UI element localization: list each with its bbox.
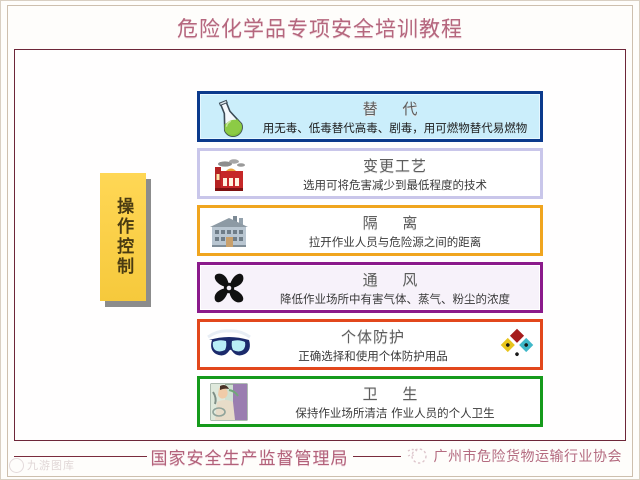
fan-icon [203, 266, 255, 310]
flask-icon [203, 95, 255, 139]
goggles-icon [203, 323, 255, 367]
list-item-subtitle: 降低作业场所中有害气体、蒸气、粉尘的浓度 [280, 291, 510, 307]
list-item-title: 替 代 [363, 98, 428, 119]
list-item-inner: 变更工艺 选用可将危害减少到最低程度的技术 [200, 151, 540, 196]
category-label-group: 操作控制 [100, 173, 146, 301]
list-item-title: 个体防护 [341, 326, 405, 347]
list-item-title: 隔 离 [363, 212, 428, 233]
footer: 国家安全生产监督管理局 广州市危险货物运输行业协会 [14, 441, 626, 471]
list-item-texts: 隔 离 拉开作业人员与危险源之间的距离 [255, 212, 539, 250]
watermark-text: 九游图库 [27, 457, 75, 473]
building-icon [203, 209, 255, 253]
hygiene-photo-icon [203, 380, 255, 424]
copyright-icon [9, 458, 24, 473]
footer-association-group: 广州市危险货物运输行业协会 [401, 446, 627, 466]
page-title: 危险化学品专项安全培训教程 [177, 13, 463, 43]
list-item-process-change[interactable]: 变更工艺 选用可将危害减少到最低程度的技术 [197, 148, 543, 199]
footer-rule-mid [353, 456, 401, 457]
list-item-hygiene[interactable]: 卫 生 保持作业场所清洁 作业人员的个人卫生 [197, 376, 543, 427]
title-bar: 危险化学品专项安全培训教程 [9, 7, 631, 49]
list-item-title: 变更工艺 [363, 155, 427, 176]
category-label-operation-control: 操作控制 [100, 173, 146, 301]
list-item-texts: 变更工艺 选用可将危害减少到最低程度的技术 [255, 155, 539, 193]
list-item-subtitle: 选用可将危害减少到最低程度的技术 [303, 177, 487, 193]
footer-agency: 国家安全生产监督管理局 [147, 444, 353, 469]
factory-icon [203, 152, 255, 196]
list-item-title: 卫 生 [363, 383, 428, 404]
list-item-isolation[interactable]: 隔 离 拉开作业人员与危险源之间的距离 [197, 205, 543, 256]
list-item-title: 通 风 [363, 269, 428, 290]
list-item-subtitle: 正确选择和使用个体防护用品 [298, 348, 448, 364]
list-item-inner: 通 风 降低作业场所中有害气体、蒸气、粉尘的浓度 [200, 265, 540, 310]
swoosh-circle-icon [407, 446, 429, 466]
list-item-texts: 替 代 用无毒、低毒替代高毒、剧毒，用可燃物替代易燃物 [255, 98, 539, 136]
list-item-inner: 卫 生 保持作业场所清洁 作业人员的个人卫生 [200, 379, 540, 424]
footer-association: 广州市危险货物运输行业协会 [434, 446, 623, 466]
nfpa-diamond-icon [495, 324, 539, 366]
measures-list: 替 代 用无毒、低毒替代高毒、剧毒，用可燃物替代易燃物 [197, 91, 543, 433]
list-item-texts: 通 风 降低作业场所中有害气体、蒸气、粉尘的浓度 [255, 269, 539, 307]
list-item-texts: 个体防护 正确选择和使用个体防护用品 [255, 326, 495, 364]
slide-canvas: 危险化学品专项安全培训教程 操作控制 [0, 0, 640, 480]
list-item-texts: 卫 生 保持作业场所清洁 作业人员的个人卫生 [255, 383, 539, 421]
list-item-ppe[interactable]: 个体防护 正确选择和使用个体防护用品 [197, 319, 543, 370]
watermark: 九游图库 [9, 457, 75, 473]
list-item-ventilation[interactable]: 通 风 降低作业场所中有害气体、蒸气、粉尘的浓度 [197, 262, 543, 313]
list-item-inner: 个体防护 正确选择和使用个体防护用品 [200, 322, 540, 367]
list-item-subtitle: 保持作业场所清洁 作业人员的个人卫生 [295, 405, 494, 421]
list-item-substitution[interactable]: 替 代 用无毒、低毒替代高毒、剧毒，用可燃物替代易燃物 [197, 91, 543, 142]
list-item-inner: 隔 离 拉开作业人员与危险源之间的距离 [200, 208, 540, 253]
list-item-subtitle: 拉开作业人员与危险源之间的距离 [309, 234, 482, 250]
category-label-text: 操作控制 [111, 197, 135, 277]
list-item-subtitle: 用无毒、低毒替代高毒、剧毒，用可燃物替代易燃物 [263, 120, 528, 136]
list-item-inner: 替 代 用无毒、低毒替代高毒、剧毒，用可燃物替代易燃物 [200, 94, 540, 139]
